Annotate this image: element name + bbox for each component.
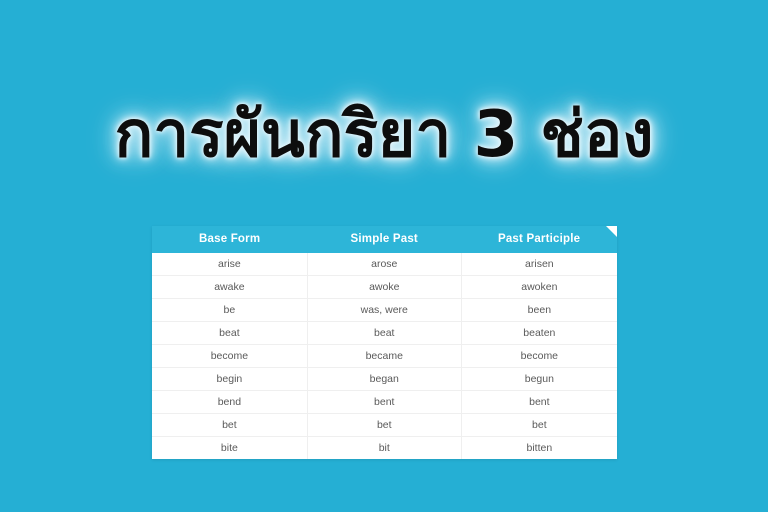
cell-base-form: bite <box>152 437 307 460</box>
table-row: bendbentbent <box>152 391 617 414</box>
cell-base-form: awake <box>152 276 307 299</box>
cell-simple-past: bent <box>307 391 461 414</box>
table-row: arisearosearisen <box>152 253 617 276</box>
table-row: betbetbet <box>152 414 617 437</box>
table-row: beginbeganbegun <box>152 368 617 391</box>
cell-base-form: begin <box>152 368 307 391</box>
column-header-base-form: Base Form <box>152 226 307 253</box>
page-title: การผันกริยา 3 ช่อง <box>114 96 653 174</box>
cell-past-participle: become <box>461 345 617 368</box>
column-header-past-participle: Past Participle <box>461 226 617 253</box>
cell-simple-past: beat <box>307 322 461 345</box>
table-header-row: Base Form Simple Past Past Participle <box>152 226 617 253</box>
cell-past-participle: beaten <box>461 322 617 345</box>
cell-base-form: bend <box>152 391 307 414</box>
cell-past-participle: bent <box>461 391 617 414</box>
cell-simple-past: bet <box>307 414 461 437</box>
slide-canvas: การผันกริยา 3 ช่อง Base Form Simple Past… <box>0 0 768 512</box>
cell-simple-past: began <box>307 368 461 391</box>
cell-past-participle: awoken <box>461 276 617 299</box>
cell-past-participle: bitten <box>461 437 617 460</box>
table-row: bitebitbitten <box>152 437 617 460</box>
cell-simple-past: bit <box>307 437 461 460</box>
table-row: beatbeatbeaten <box>152 322 617 345</box>
irregular-verbs-table: Base Form Simple Past Past Participle ar… <box>152 226 617 459</box>
cell-base-form: beat <box>152 322 307 345</box>
table-row: becomebecamebecome <box>152 345 617 368</box>
cell-past-participle: begun <box>461 368 617 391</box>
cell-simple-past: became <box>307 345 461 368</box>
cell-simple-past: awoke <box>307 276 461 299</box>
cell-past-participle: been <box>461 299 617 322</box>
table-row: awakeawokeawoken <box>152 276 617 299</box>
cell-past-participle: bet <box>461 414 617 437</box>
title-container: การผันกริยา 3 ช่อง <box>0 96 768 174</box>
irregular-verbs-table-card: Base Form Simple Past Past Participle ar… <box>152 226 617 459</box>
column-header-past-participle-label: Past Participle <box>498 233 580 245</box>
cell-base-form: arise <box>152 253 307 276</box>
cell-base-form: be <box>152 299 307 322</box>
table-header: Base Form Simple Past Past Participle <box>152 226 617 253</box>
cell-simple-past: arose <box>307 253 461 276</box>
cell-base-form: become <box>152 345 307 368</box>
cell-past-participle: arisen <box>461 253 617 276</box>
corner-fold-icon <box>606 226 617 237</box>
table-body: arisearosearisenawakeawokeawokenbewas, w… <box>152 253 617 459</box>
column-header-simple-past: Simple Past <box>307 226 461 253</box>
cell-base-form: bet <box>152 414 307 437</box>
cell-simple-past: was, were <box>307 299 461 322</box>
table-row: bewas, werebeen <box>152 299 617 322</box>
